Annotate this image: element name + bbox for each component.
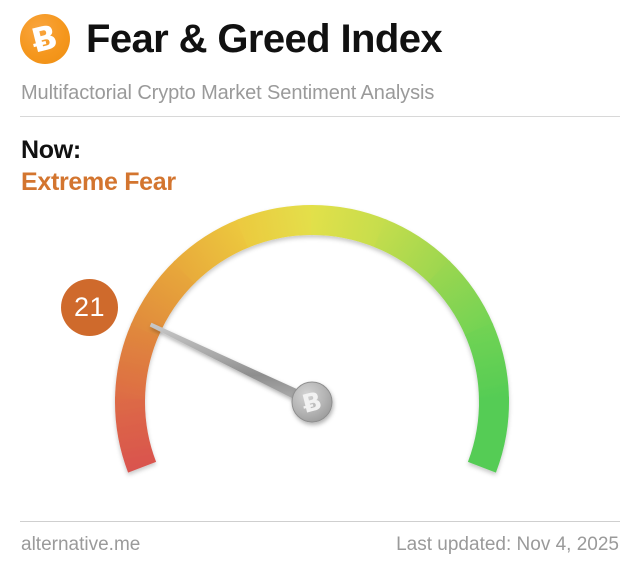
gauge-segment [428, 260, 493, 336]
gauge-segment [236, 205, 313, 248]
gauge-segment [115, 397, 156, 473]
bitcoin-icon-glyph: Ƀ [29, 19, 61, 57]
header-divider [20, 116, 620, 117]
gauge-value-bubble: 21 [61, 279, 118, 336]
gauge-value-text: 21 [74, 292, 105, 323]
gauge-segment [468, 397, 509, 473]
footer-divider [20, 521, 620, 522]
bitcoin-icon: Ƀ [20, 14, 70, 64]
gauge-segment [115, 323, 159, 400]
now-label: Now: [21, 136, 81, 165]
gauge-needle: Ƀ [150, 323, 332, 422]
page-title: Fear & Greed Index [86, 19, 442, 59]
page-subtitle: Multifactorial Crypto Market Sentiment A… [21, 82, 434, 105]
fear-greed-index-card: Ƀ Fear & Greed Index Multifactorial Cryp… [0, 0, 640, 575]
gauge-segment [131, 260, 196, 336]
sentiment-classification: Extreme Fear [21, 168, 176, 197]
gauge-segment [465, 323, 509, 400]
gauge-segment [374, 219, 451, 283]
gauge-segment [311, 205, 388, 248]
needle-pointer [150, 323, 315, 407]
needle-hub [292, 382, 332, 422]
footer-site-label: alternative.me [21, 534, 140, 556]
gauge-segment [173, 219, 250, 283]
gauge-track [115, 205, 509, 473]
bitcoin-hub-icon: Ƀ [299, 386, 325, 419]
header: Ƀ Fear & Greed Index [20, 14, 442, 64]
footer-last-updated: Last updated: Nov 4, 2025 [396, 534, 619, 556]
